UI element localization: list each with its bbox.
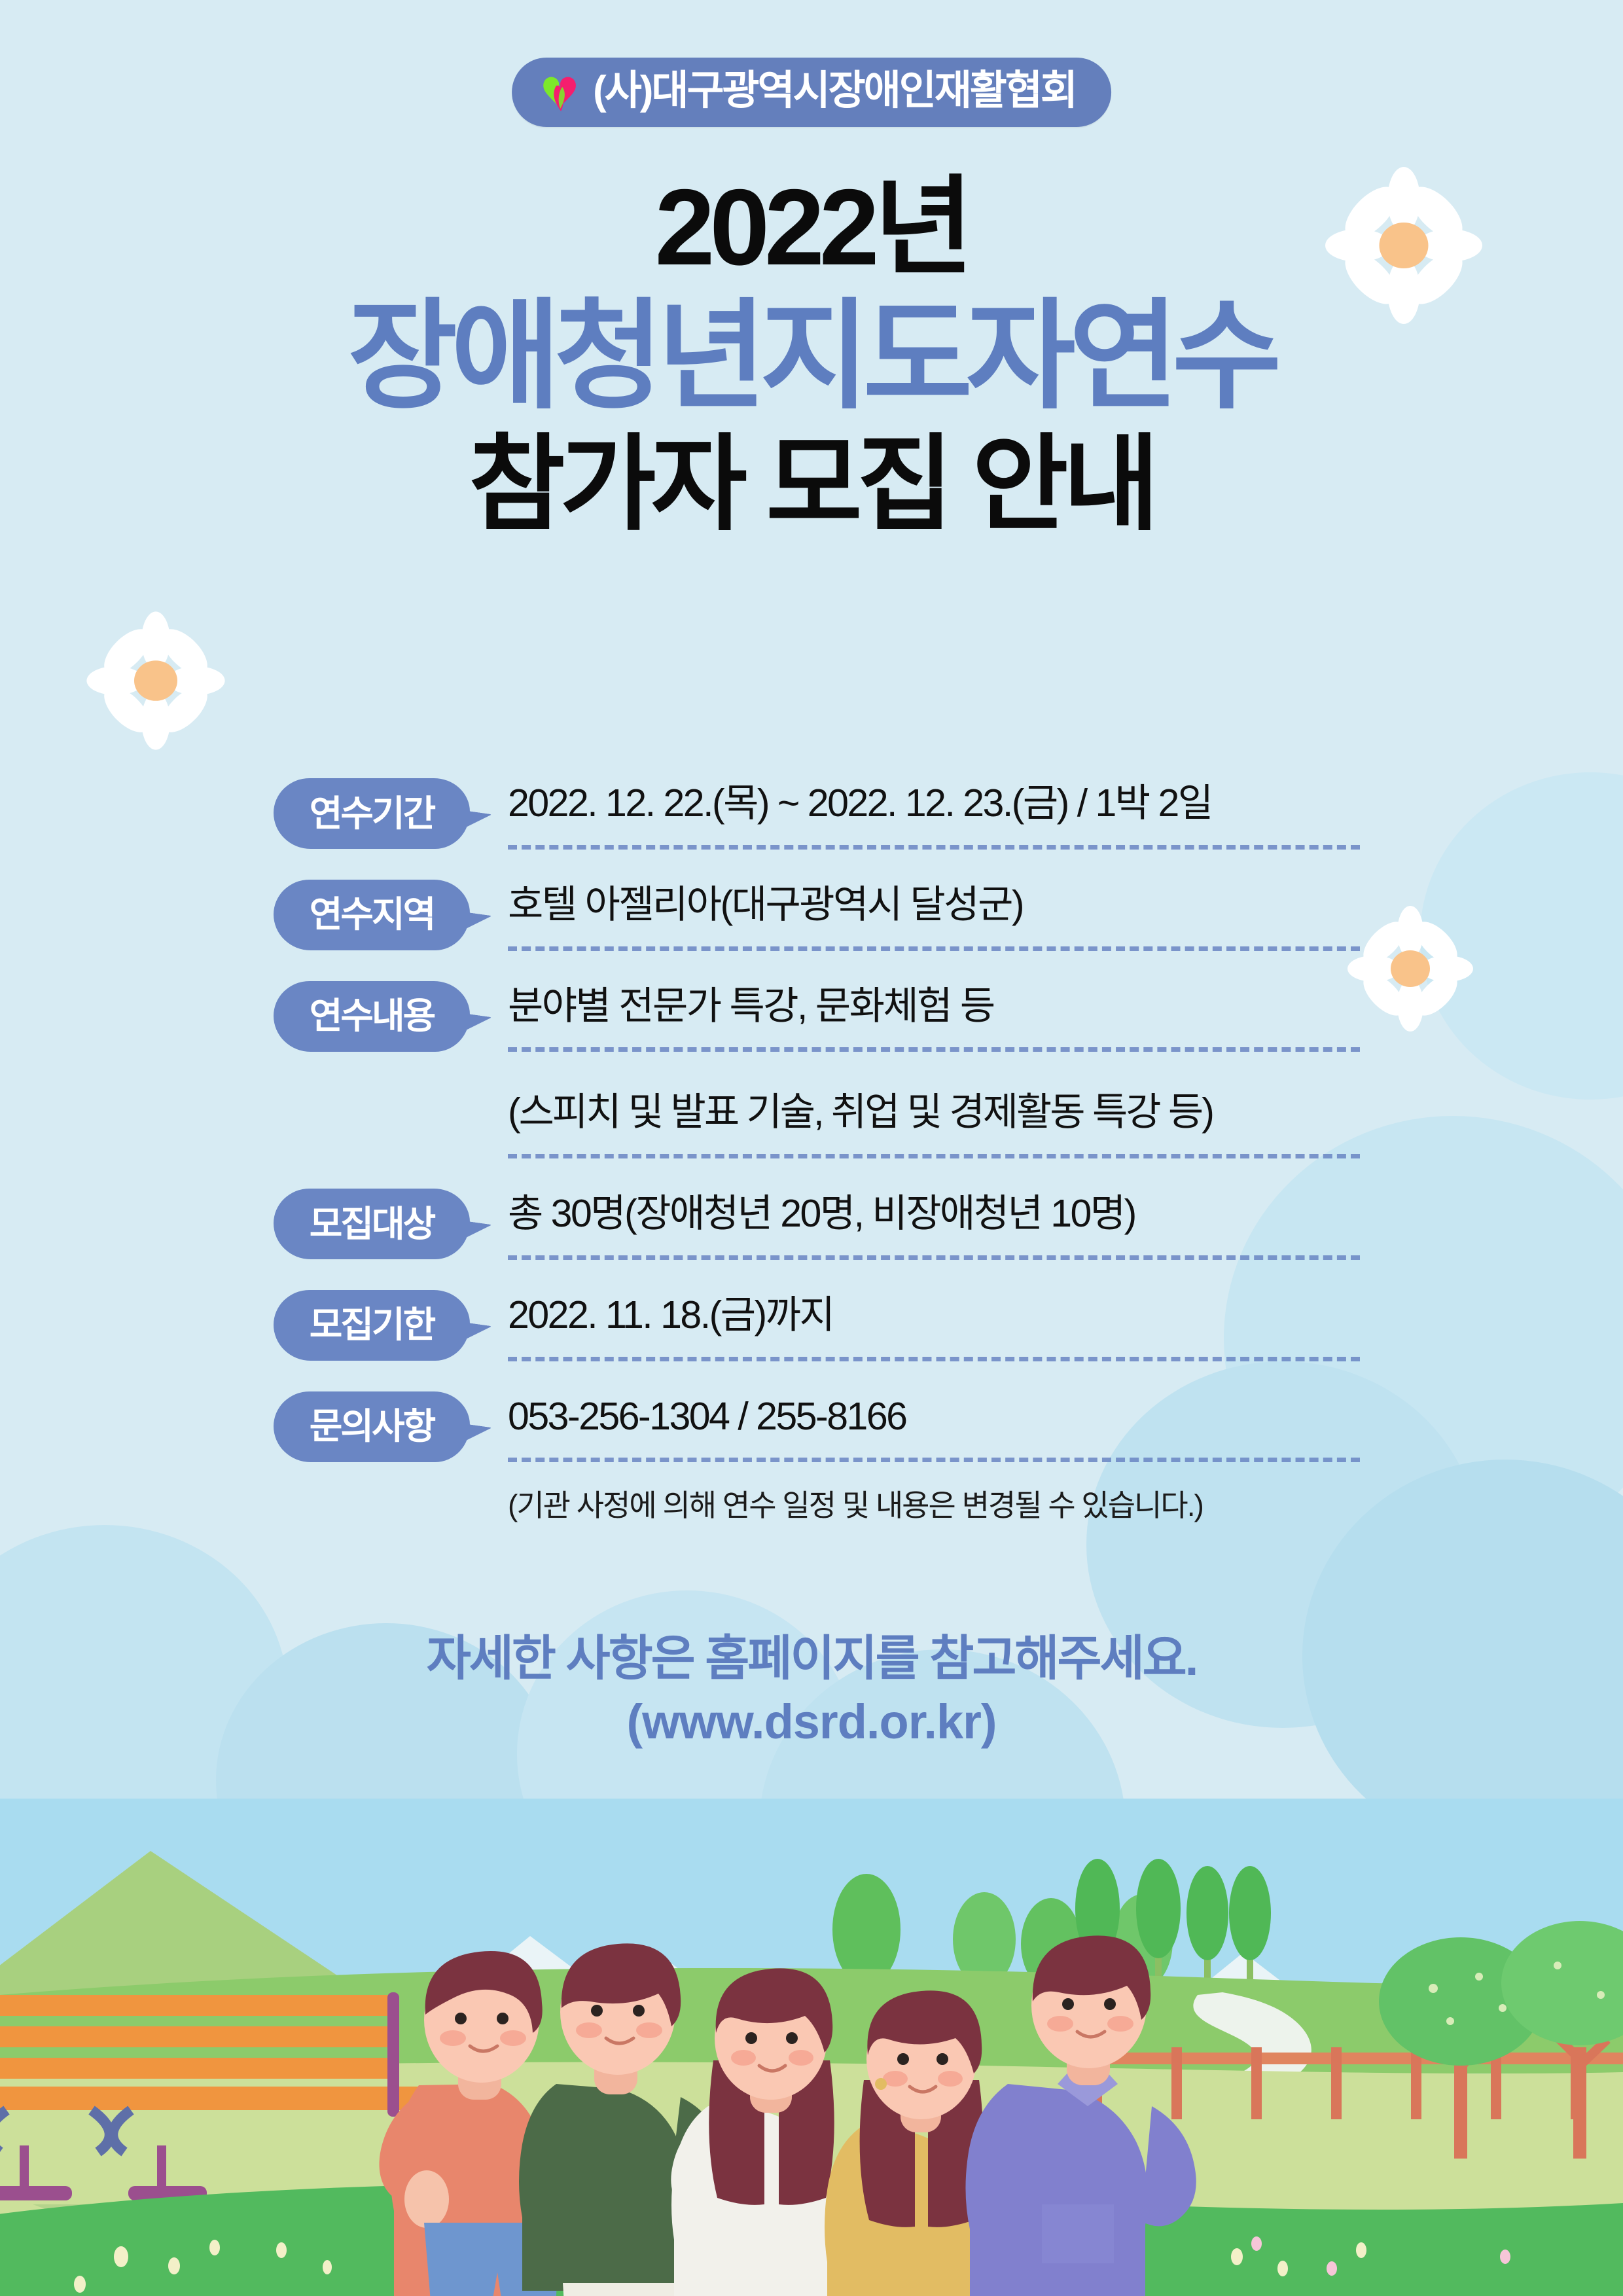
badge-tail-shape	[461, 1322, 492, 1346]
poster-root: (사)대구광역시장애인재활협회	[0, 0, 1623, 2296]
homepage-cta-text: 자세한 사항은 홈페이지를 참고해주세요.	[0, 1630, 1623, 1688]
info-row-training-period: 연수기간 2022. 12. 22.(목) ~ 2022. 12. 23.(금)…	[274, 776, 1360, 850]
info-value-text: 2022. 12. 22.(목) ~ 2022. 12. 23.(금) / 1박…	[508, 780, 1360, 828]
badge-tail-shape	[461, 810, 492, 834]
badge-tail-shape	[461, 1013, 492, 1037]
park-illustration	[0, 1799, 1623, 2296]
info-row-recruitment-deadline: 모집기한 2022. 11. 18.(금)까지	[274, 1287, 1360, 1361]
info-label-badge: 연수지역	[274, 880, 470, 950]
info-value-text: 총 30명(장애청년 20명, 비장애청년 10명)	[508, 1190, 1360, 1238]
info-value-text: 호텔 아젤리아(대구광역시 달성군)	[508, 881, 1360, 929]
badge-tail-shape	[461, 1424, 492, 1447]
badge-tail-shape	[461, 1221, 492, 1244]
info-label-badge: 모집대상	[274, 1189, 470, 1259]
row-divider	[508, 1357, 1360, 1361]
badge-tail-shape	[461, 912, 492, 935]
row-divider	[508, 1154, 1360, 1158]
title-sub: 참가자 모집 안내	[0, 429, 1623, 539]
row-divider	[508, 946, 1360, 951]
info-label-badge: 모집기한	[274, 1290, 470, 1361]
info-label-text: 연수기간	[310, 796, 434, 832]
heart-logo-icon	[538, 69, 581, 113]
daisy-flower-icon-3	[1345, 903, 1476, 1034]
info-value-text: 053-256-1304 / 255-8166	[508, 1393, 1360, 1441]
title-main: 장애청년지도자연수	[0, 296, 1623, 418]
info-value-text: 분야별 전문가 특강, 문화체험 등	[508, 982, 1360, 1031]
info-label-text: 문의사항	[310, 1408, 434, 1444]
info-row-contact: 문의사항 053-256-1304 / 255-8166 (기관 사정에 의해 …	[274, 1389, 1360, 1526]
info-list: 연수기간 2022. 12. 22.(목) ~ 2022. 12. 23.(금)…	[274, 776, 1360, 1525]
info-label-text: 모집기한	[310, 1307, 434, 1343]
info-label-text: 모집대상	[310, 1206, 434, 1242]
info-label-text: 연수지역	[310, 897, 434, 933]
info-value-group: 2022. 12. 22.(목) ~ 2022. 12. 23.(금) / 1박…	[470, 776, 1360, 850]
daisy-flower-icon-2	[84, 609, 228, 753]
info-disclaimer-note: (기관 사정에 의해 연수 일정 및 내용은 변경될 수 있습니다.)	[508, 1482, 1360, 1525]
row-divider	[508, 1458, 1360, 1462]
row-divider	[508, 1047, 1360, 1052]
info-row-training-content: 연수내용 분야별 전문가 특강, 문화체험 등 (스피치 및 발표 기술, 취업…	[274, 978, 1360, 1159]
info-value-group: 분야별 전문가 특강, 문화체험 등 (스피치 및 발표 기술, 취업 및 경제…	[470, 978, 1360, 1159]
info-value-group: 호텔 아젤리아(대구광역시 달성군)	[470, 877, 1360, 951]
info-value-group: 2022. 11. 18.(금)까지	[470, 1287, 1360, 1361]
info-label-badge: 연수내용	[274, 981, 470, 1052]
info-label-text: 연수내용	[310, 998, 434, 1034]
info-row-training-location: 연수지역 호텔 아젤리아(대구광역시 달성군)	[274, 877, 1360, 951]
poster-title-block: 2022년 장애청년지도자연수 참가자 모집 안내	[0, 173, 1623, 539]
title-year: 2022년	[0, 173, 1623, 281]
info-value-group: 053-256-1304 / 255-8166 (기관 사정에 의해 연수 일정…	[470, 1389, 1360, 1526]
info-label-badge: 문의사항	[274, 1391, 470, 1462]
homepage-url-link[interactable]: (www.dsrd.or.kr)	[0, 1693, 1623, 1751]
info-value-group: 총 30명(장애청년 20명, 비장애청년 10명)	[470, 1186, 1360, 1260]
info-value-text-secondary: (스피치 및 발표 기술, 취업 및 경제활동 특강 등)	[508, 1088, 1360, 1137]
footer-cta-block: 자세한 사항은 홈페이지를 참고해주세요. (www.dsrd.or.kr)	[0, 1630, 1623, 1751]
info-row-recruitment-target: 모집대상 총 30명(장애청년 20명, 비장애청년 10명)	[274, 1186, 1360, 1260]
info-label-badge: 연수기간	[274, 778, 470, 849]
row-divider	[508, 1255, 1360, 1260]
info-value-text: 2022. 11. 18.(금)까지	[508, 1291, 1360, 1340]
row-divider	[508, 845, 1360, 850]
organization-name: (사)대구광역시장애인재활협회	[593, 71, 1076, 111]
organization-badge: (사)대구광역시장애인재활협회	[512, 58, 1111, 127]
